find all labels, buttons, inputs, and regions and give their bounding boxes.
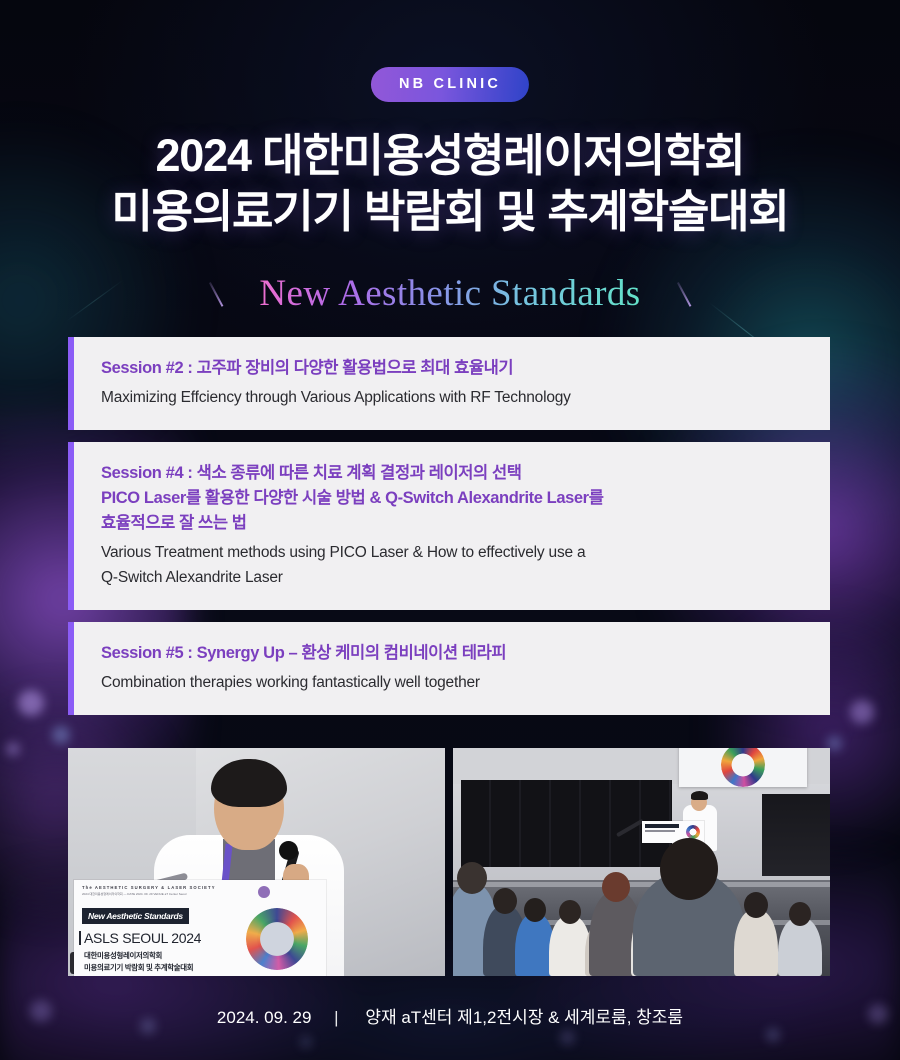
session-body: Various Treatment methods using PICO Las… — [101, 540, 800, 590]
speaker-hair — [211, 759, 287, 807]
subtitle-row: New Aesthetic Standards — [0, 272, 900, 315]
bokeh-dot — [6, 742, 20, 756]
podium-secondary-logo-icon — [258, 886, 270, 898]
slash-left-icon — [203, 281, 229, 307]
hall-podium-tagline-bar — [645, 824, 679, 828]
bokeh-dot — [560, 1030, 575, 1045]
session-body: Maximizing Effciency through Various App… — [101, 385, 800, 410]
poster-root: NB CLINIC 2024 대한미용성형레이저의학회 미용의료기기 박람회 및… — [0, 0, 900, 1060]
hall-speaker-hair — [691, 791, 708, 800]
subtitle-text: New Aesthetic Standards — [259, 272, 640, 315]
audience-head — [457, 862, 487, 894]
podium-korean-line-2: 미용의료기기 박람회 및 추계학술대회 — [84, 962, 193, 973]
bokeh-dot — [52, 726, 70, 744]
session-body: Combination therapies working fantastica… — [101, 670, 800, 695]
session-heading: Session #4 : 색소 종류에 따른 치료 계획 결정과 레이저의 선택… — [101, 461, 800, 536]
footer-venue: 양재 aT센터 제1,2전시장 & 세계로룸, 창조룸 — [365, 1008, 683, 1027]
bokeh-dot — [18, 690, 44, 716]
podium-tagline: New Aesthetic Standards — [82, 908, 189, 924]
podium-korean-line-1: 대한미용성형레이저의학회 — [84, 950, 162, 961]
bokeh-dot — [766, 1028, 780, 1042]
photo-speaker-at-podium: The AESTHETIC SURGERY & LASER SOCIETY 20… — [68, 748, 445, 976]
session-card: Session #4 : 색소 종류에 따른 치료 계획 결정과 레이저의 선택… — [68, 442, 830, 610]
title-line-1: 2024 대한미용성형레이저의학회 — [0, 128, 900, 184]
audience-head — [744, 892, 768, 918]
hall-podium-text-line — [645, 830, 675, 832]
audience-member — [778, 918, 822, 976]
footer-date: 2024. 09. 29 — [217, 1008, 312, 1027]
session-card-list: Session #2 : 고주파 장비의 다양한 활용법으로 최대 효율내기 M… — [68, 337, 830, 727]
podium-header-block: The AESTHETIC SURGERY & LASER SOCIETY 20… — [82, 885, 318, 894]
audience-head — [559, 900, 581, 924]
photo-audience-hall — [453, 748, 830, 976]
podium-signage: The AESTHETIC SURGERY & LASER SOCIETY 20… — [74, 880, 326, 976]
session-card: Session #5 : Synergy Up – 환상 케미의 컴비네이션 테… — [68, 622, 830, 715]
hall-drape — [762, 794, 830, 876]
footer-separator: | — [334, 1008, 338, 1028]
audience-member — [734, 910, 778, 976]
brand-badge: NB CLINIC — [371, 67, 529, 102]
slash-right-icon — [671, 281, 697, 307]
projection-screen — [679, 748, 807, 787]
podium-society-name: The AESTHETIC SURGERY & LASER SOCIETY — [82, 885, 318, 890]
bokeh-dot — [850, 700, 874, 724]
session-heading: Session #2 : 고주파 장비의 다양한 활용법으로 최대 효율내기 — [101, 356, 800, 381]
podium-event-title: ASLS SEOUL 2024 — [84, 930, 201, 946]
podium-meta-line: 2024 대한미용성형레이저의학회 — DATE 2024. 09. 29 VE… — [82, 892, 318, 896]
session-card: Session #2 : 고주파 장비의 다양한 활용법으로 최대 효율내기 M… — [68, 337, 830, 430]
session-heading: Session #5 : Synergy Up – 환상 케미의 컴비네이션 테… — [101, 641, 800, 666]
footer-info: 2024. 09. 29 | 양재 aT센터 제1,2전시장 & 세계로룸, 창… — [0, 1003, 900, 1028]
society-circular-logo-icon — [246, 908, 308, 970]
title-line-2: 미용의료기기 박람회 및 추계학술대회 — [0, 184, 900, 240]
hall-podium-logo-icon — [686, 825, 700, 839]
audience-head — [602, 872, 630, 902]
audience-member — [633, 872, 745, 976]
audience-head — [789, 902, 811, 926]
audience-head — [493, 888, 517, 914]
bokeh-dot — [300, 1036, 312, 1048]
audience-head — [524, 898, 546, 922]
photo-strip: The AESTHETIC SURGERY & LASER SOCIETY 20… — [68, 748, 830, 976]
projected-circular-logo-icon — [721, 748, 765, 787]
audience-head — [660, 838, 718, 900]
page-title: 2024 대한미용성형레이저의학회 미용의료기기 박람회 및 추계학술대회 — [0, 128, 900, 240]
table-edge — [453, 882, 830, 887]
